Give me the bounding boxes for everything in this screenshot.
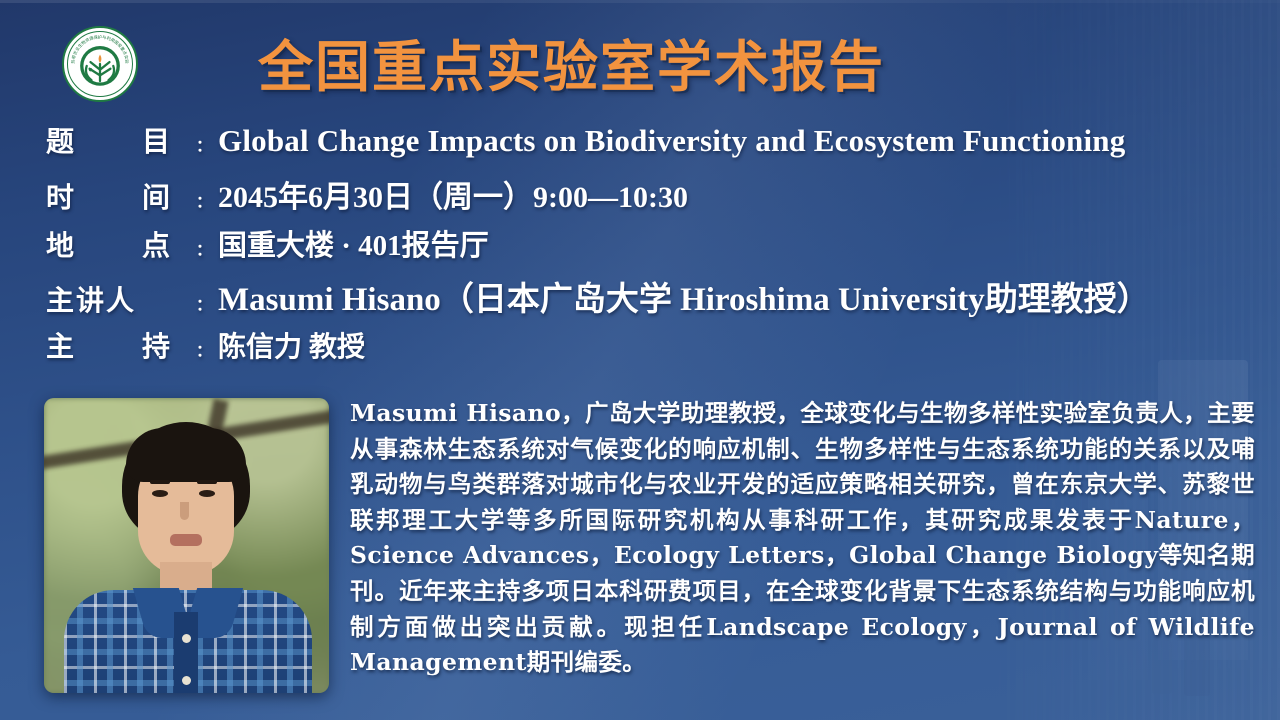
- emblem-artwork: 亚热带农业生物资源保护与利用国家重点实验室: [64, 26, 136, 102]
- info-value-venue: 国重大楼 · 401报告厅: [218, 222, 489, 264]
- portrait-nose: [180, 502, 189, 520]
- info-value-topic: Global Change Impacts on Biodiversity an…: [218, 123, 1125, 159]
- info-row-host: 主 持 ： 陈信力 教授: [46, 325, 1266, 373]
- info-label-host: 主 持: [46, 325, 196, 365]
- info-value-time: 2045年6月30日（周一）9:00—10:30: [218, 172, 688, 216]
- seminar-poster: 亚热带农业生物资源保护与利用国家重点实验室 全国重点实验室学术报告: [0, 0, 1280, 720]
- portrait-eye-left: [152, 490, 168, 497]
- info-colon-topic: ：: [196, 132, 212, 156]
- portrait-eye-right: [199, 490, 215, 497]
- speaker-portrait-photo: [44, 398, 329, 693]
- info-label-time: 时 间: [46, 176, 196, 216]
- portrait-mouth: [170, 534, 202, 546]
- info-label-venue: 地 点: [46, 224, 196, 264]
- portrait-fringe: [126, 428, 246, 482]
- info-colon-speaker: ：: [196, 291, 212, 315]
- info-row-topic: 题 目 ： Global Change Impacts on Biodivers…: [46, 120, 1266, 172]
- info-value-host: 陈信力 教授: [218, 325, 365, 365]
- info-colon-host: ：: [196, 337, 212, 361]
- info-value-speaker-affiliation: （日本广岛大学 Hiroshima University助理教授）: [441, 272, 1150, 320]
- info-row-time: 时 间 ： 2045年6月30日（周一）9:00—10:30: [46, 172, 1266, 222]
- info-row-speaker: 主讲人 ： Masumi Hisano （日本广岛大学 Hiroshima Un…: [46, 272, 1266, 325]
- portrait-eyebrow-right: [197, 480, 217, 484]
- info-label-speaker: 主讲人: [46, 279, 196, 319]
- info-value-speaker: Masumi Hisano: [218, 282, 441, 319]
- speaker-biography: Masumi Hisano，广岛大学助理教授，全球变化与生物多样性实验室负责人，…: [350, 396, 1255, 681]
- info-colon-venue: ：: [196, 236, 212, 260]
- page-title: 全国重点实验室学术报告: [258, 22, 885, 102]
- poster-header: 亚热带农业生物资源保护与利用国家重点实验室 全国重点实验室学术报告: [0, 0, 1280, 118]
- seminar-info-list: 题 目 ： Global Change Impacts on Biodivers…: [46, 120, 1266, 373]
- portrait-shirt-button-bottom: [182, 676, 191, 685]
- info-label-topic: 题 目: [46, 120, 196, 160]
- portrait-shirt-button-top: [182, 634, 191, 643]
- national-key-lab-emblem-icon: 亚热带农业生物资源保护与利用国家重点实验室: [62, 26, 138, 102]
- portrait-eyebrow-left: [150, 480, 170, 484]
- info-colon-time: ：: [196, 188, 212, 212]
- info-row-venue: 地 点 ： 国重大楼 · 401报告厅: [46, 222, 1266, 272]
